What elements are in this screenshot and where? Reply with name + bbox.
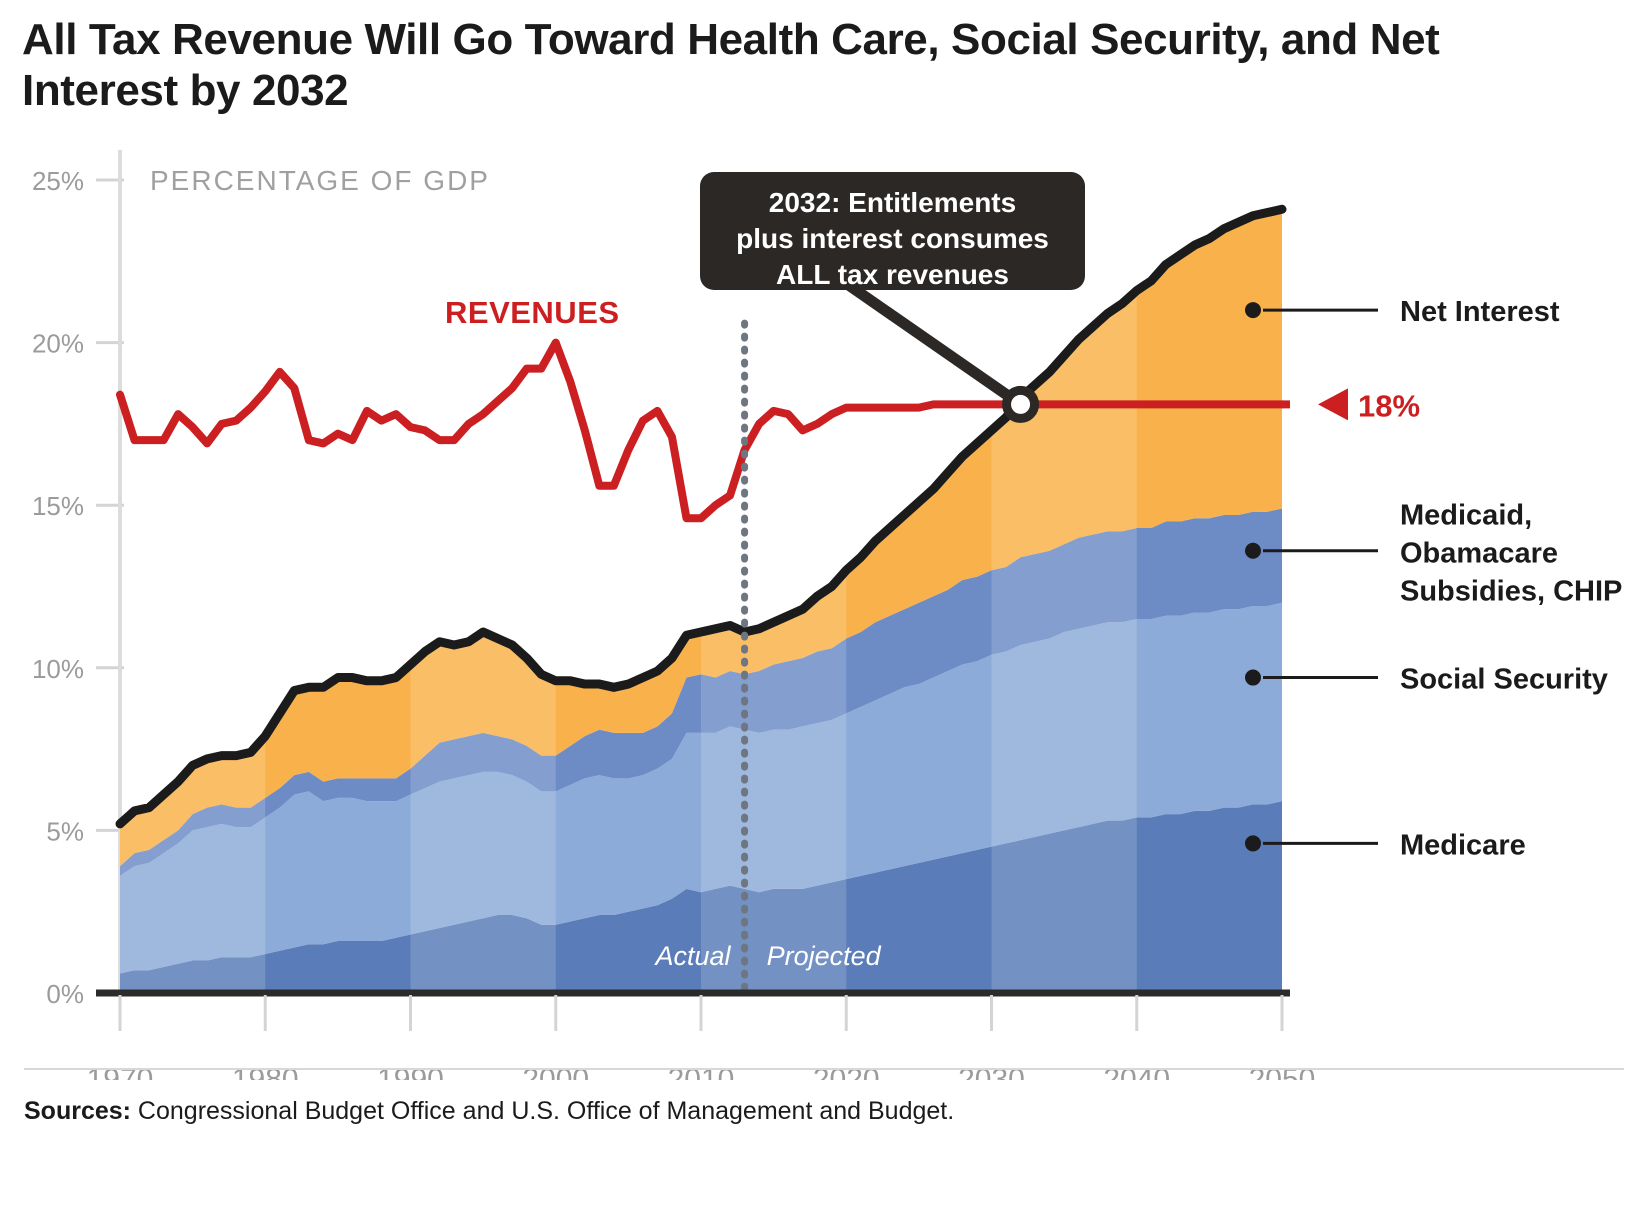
page-title: All Tax Revenue Will Go Toward Health Ca… — [22, 14, 1522, 116]
callout-line-1: 2032: Entitlements — [769, 187, 1016, 218]
y-tick-5: 5% — [46, 816, 84, 846]
legend-medicaid-label: Subsidies, CHIP — [1400, 576, 1622, 608]
revenue-level-label: 18% — [1358, 388, 1420, 423]
legend-medicaid-dot — [1245, 543, 1261, 559]
actual-label: Actual — [654, 941, 732, 971]
sources-text: Congressional Budget Office and U.S. Off… — [131, 1097, 954, 1125]
divider — [24, 1068, 1624, 1070]
revenue-level-arrow-icon — [1318, 388, 1348, 420]
gdp-note: PERCENTAGE OF GDP — [150, 165, 490, 196]
x-tick-2050: 2050 — [1249, 1063, 1316, 1080]
x-tick-2000: 2000 — [522, 1063, 589, 1080]
legend-social-security-dot — [1245, 670, 1261, 686]
legend-medicaid-label: Medicaid, — [1400, 500, 1532, 532]
legend-net-interest-dot — [1245, 302, 1261, 318]
legend-medicare-dot — [1245, 835, 1261, 851]
legend-net-interest-label: Net Interest — [1400, 296, 1560, 328]
x-tick-2020: 2020 — [813, 1063, 880, 1080]
chart-figure: 0%5%10%15%20%25%197019801990200020102020… — [0, 140, 1650, 1080]
legend-medicare-label: Medicare — [1400, 829, 1526, 861]
y-tick-10: 10% — [32, 654, 84, 684]
y-tick-25: 25% — [32, 166, 84, 196]
y-tick-20: 20% — [32, 329, 84, 359]
x-tick-1990: 1990 — [377, 1063, 444, 1080]
chart-svg: 0%5%10%15%20%25%197019801990200020102020… — [0, 140, 1650, 1080]
x-tick-2030: 2030 — [958, 1063, 1025, 1080]
crossover-marker — [1007, 390, 1035, 418]
sources-label: Sources: — [24, 1097, 131, 1125]
revenues-label: REVENUES — [445, 295, 620, 330]
y-tick-15: 15% — [32, 491, 84, 521]
callout-line-2: plus interest consumes — [736, 223, 1049, 254]
x-tick-1980: 1980 — [232, 1063, 299, 1080]
legend-medicaid-label: Obamacare — [1400, 538, 1558, 570]
legend-social-security-label: Social Security — [1400, 664, 1608, 696]
x-tick-2010: 2010 — [668, 1063, 735, 1080]
callout-line-3: ALL tax revenues — [776, 259, 1009, 290]
y-tick-0: 0% — [46, 979, 84, 1009]
x-tick-2040: 2040 — [1103, 1063, 1170, 1080]
projected-label: Projected — [767, 941, 882, 971]
sources-line: Sources: Congressional Budget Office and… — [24, 1095, 1604, 1128]
callout-leader-line — [850, 286, 1021, 404]
x-tick-1970: 1970 — [87, 1063, 154, 1080]
